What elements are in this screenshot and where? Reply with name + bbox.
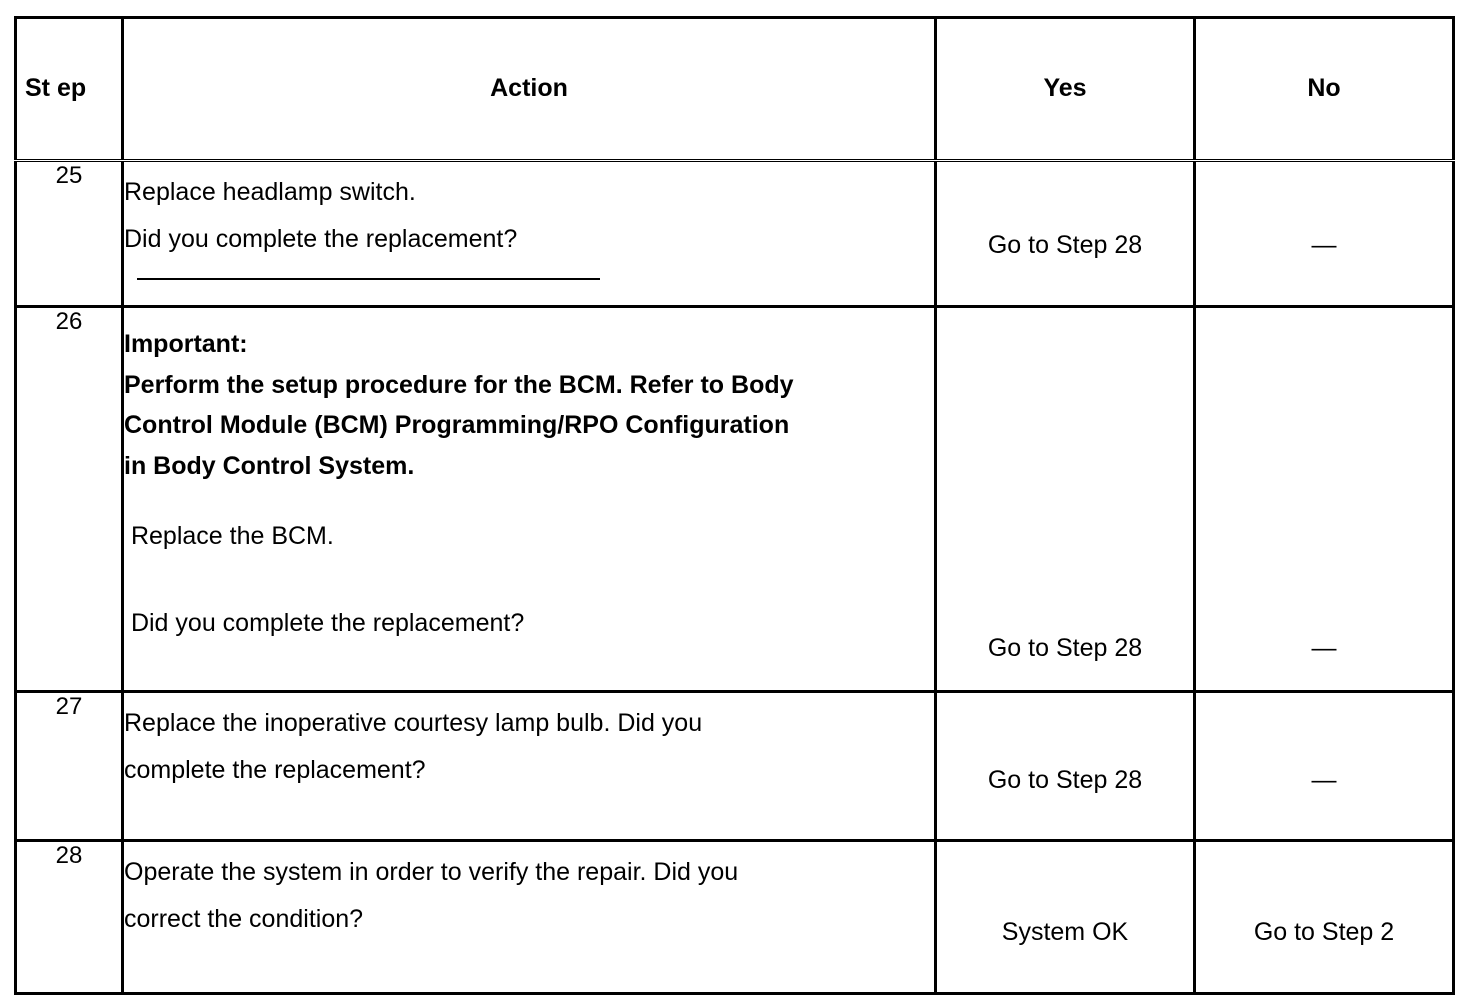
action-line-bold: Control Module (BCM) Programming/RPO Con… — [124, 405, 934, 446]
cell-yes-result: Go to Step 28 — [936, 161, 1195, 307]
action-line: Replace the BCM. — [124, 524, 934, 549]
column-header-action: Action — [123, 18, 936, 161]
cell-yes-result: System OK — [936, 841, 1195, 994]
table-row: 26 Important: Perform the setup procedur… — [16, 307, 1454, 692]
cell-no-result: Go to Step 2 — [1195, 841, 1454, 994]
cell-no-result: — — [1195, 692, 1454, 841]
action-line: complete the replacement? — [124, 758, 934, 783]
action-line: Did you complete the replacement? — [124, 227, 934, 252]
cell-action: Important: Perform the setup procedure f… — [123, 307, 936, 692]
cell-action: Replace the inoperative courtesy lamp bu… — [123, 692, 936, 841]
action-line-bold: in Body Control System. — [124, 446, 934, 487]
table-row: 27 Replace the inoperative courtesy lamp… — [16, 692, 1454, 841]
action-important-label: Important: — [124, 324, 934, 365]
action-line-bold: Perform the setup procedure for the BCM.… — [124, 365, 934, 406]
cell-yes-result: Go to Step 28 — [936, 692, 1195, 841]
column-header-step: St ep — [16, 18, 123, 161]
action-line: Replace the inoperative courtesy lamp bu… — [124, 711, 934, 736]
cell-step-number: 26 — [16, 307, 123, 692]
column-header-no: No — [1195, 18, 1454, 161]
table-row: 25 Replace headlamp switch. Did you comp… — [16, 161, 1454, 307]
cell-yes-result: Go to Step 28 — [936, 307, 1195, 692]
diagnostic-table-page: St ep Action Yes No 25 Replace headlamp … — [0, 0, 1472, 904]
cell-action: Replace headlamp switch. Did you complet… — [123, 161, 936, 307]
table-row: 28 Operate the system in order to verify… — [16, 841, 1454, 994]
diagnostic-procedure-table: St ep Action Yes No 25 Replace headlamp … — [14, 16, 1455, 995]
cell-no-result: — — [1195, 161, 1454, 307]
cell-step-number: 28 — [16, 841, 123, 994]
action-line: correct the condition? — [124, 907, 934, 932]
action-line: Did you complete the replacement? — [124, 611, 934, 636]
cell-step-number: 27 — [16, 692, 123, 841]
row-divider-artifact — [137, 278, 600, 280]
action-line: Replace headlamp switch. — [124, 180, 934, 205]
column-header-yes: Yes — [936, 18, 1195, 161]
table-header-row: St ep Action Yes No — [16, 18, 1454, 161]
cell-step-number: 25 — [16, 161, 123, 307]
cell-action: Operate the system in order to verify th… — [123, 841, 936, 994]
cell-no-result: — — [1195, 307, 1454, 692]
action-line: Operate the system in order to verify th… — [124, 860, 934, 885]
